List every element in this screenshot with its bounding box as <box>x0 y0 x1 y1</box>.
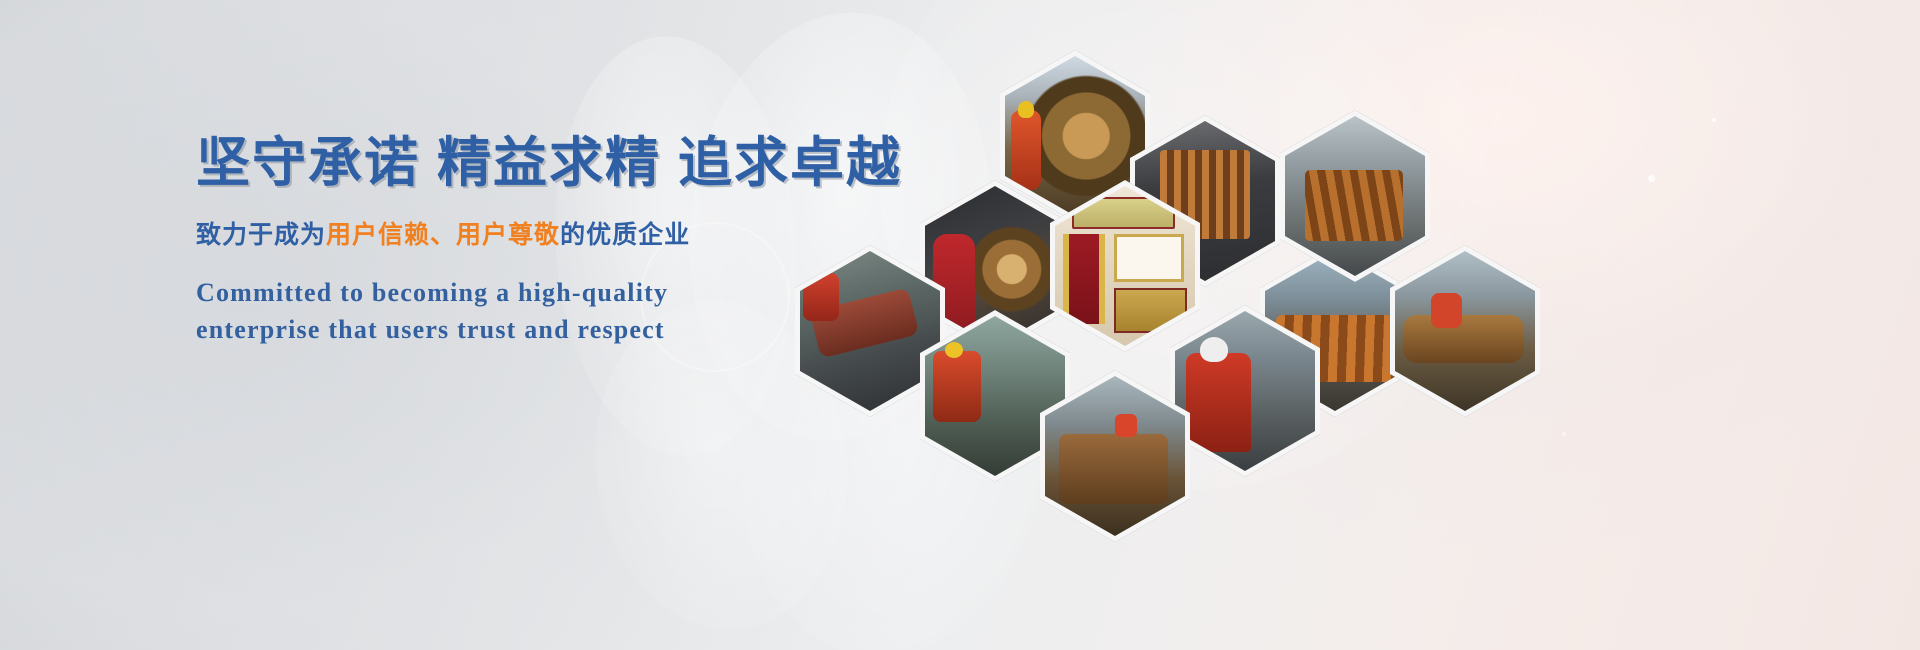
certificate-plaque-gold <box>1114 288 1187 333</box>
sparkle-dot-4 <box>1562 432 1566 436</box>
subtitle-lead: 致力于成为 <box>196 221 326 249</box>
subtitle-highlight-1: 用户信赖 <box>326 221 430 249</box>
light-streak-4 <box>1687 300 1791 582</box>
subtitle-tail: 的优质企业 <box>560 221 690 249</box>
hex-tile-rotor-shaft-machining[interactable] <box>1390 245 1540 417</box>
subtitle-highlight-2: 用户尊敬 <box>456 221 560 249</box>
subtitle-separator: 、 <box>430 221 456 249</box>
sparkle-dot-1 <box>1648 175 1655 182</box>
light-streak-2 <box>1601 0 1701 286</box>
honor-banner-red <box>1063 234 1105 324</box>
certificate-framed <box>1114 234 1184 282</box>
hexagon-photo-gallery <box>770 50 1430 570</box>
sparkle-dot-2 <box>1712 118 1716 122</box>
hex-tile-tooling-rack[interactable] <box>1280 110 1430 282</box>
hero-banner: 坚守承诺 精益求精 追求卓越 致力于成为用户信赖、用户尊敬的优质企业 Commi… <box>0 0 1920 650</box>
